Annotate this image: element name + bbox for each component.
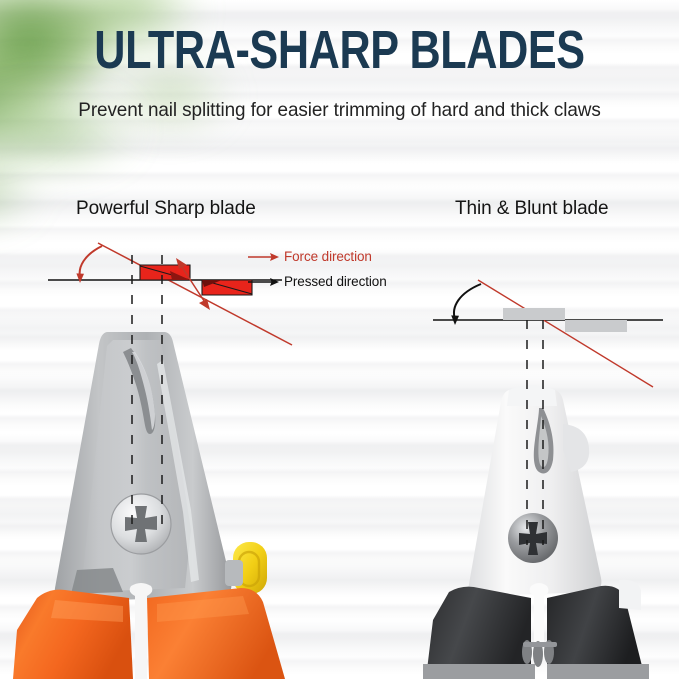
handle-black-left[interactable] xyxy=(427,587,531,670)
angle-arc-right xyxy=(454,284,481,319)
arrow-right-icon-pressed xyxy=(247,275,281,289)
blade-wedge-right xyxy=(202,280,252,295)
blade-slab-left xyxy=(503,308,565,320)
handle-tab-white-right xyxy=(619,580,641,610)
legend-item-pressed: Pressed direction xyxy=(247,269,387,294)
diagram-blunt-blade xyxy=(415,275,679,565)
angle-arc-left xyxy=(80,246,102,277)
blade-slab-right xyxy=(565,320,627,332)
handle-end-right xyxy=(547,664,649,679)
arrow-right-icon-force xyxy=(247,250,281,264)
legend-label-force: Force direction xyxy=(284,249,372,264)
force-line-right xyxy=(478,280,653,387)
legend-item-force: Force direction xyxy=(247,244,387,269)
page-subtitle: Prevent nail splitting for easier trimmi… xyxy=(10,97,669,123)
spring-strut-white xyxy=(530,583,549,648)
legend: Force direction Pressed direction xyxy=(247,244,387,294)
infographic-canvas: ULTRA-SHARP BLADES Prevent nail splittin… xyxy=(0,0,679,679)
handle-end-left xyxy=(423,664,535,679)
legend-label-pressed: Pressed direction xyxy=(284,274,387,289)
angle-arc-arrowhead-left xyxy=(76,273,84,283)
page-title: ULTRA-SHARP BLADES xyxy=(68,22,611,78)
panel-heading-left: Powerful Sharp blade xyxy=(76,198,256,220)
panel-heading-right: Thin & Blunt blade xyxy=(455,198,608,220)
header: ULTRA-SHARP BLADES Prevent nail splittin… xyxy=(0,0,679,150)
